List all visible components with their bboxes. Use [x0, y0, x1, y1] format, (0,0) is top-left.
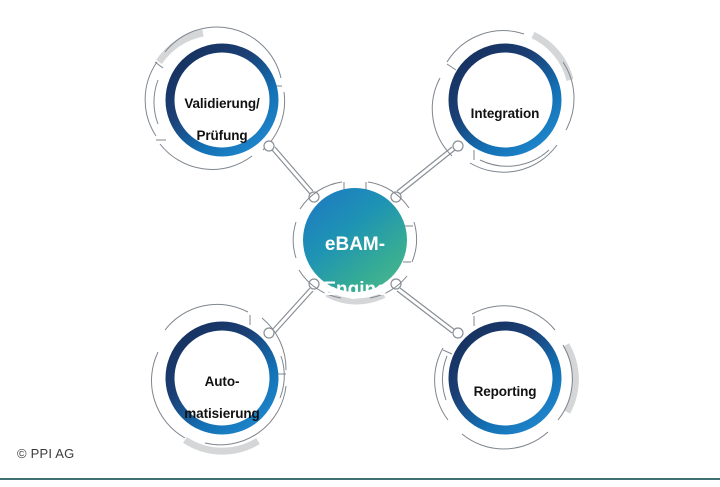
- decor-bracket-arc: [280, 356, 284, 398]
- decor-thin-arc: [293, 222, 296, 258]
- bottom-divider: [0, 478, 720, 480]
- decor-tick: [447, 64, 456, 70]
- decor-tick: [443, 350, 452, 354]
- decor-bracket-arc: [442, 356, 447, 400]
- connector-reporting: [391, 279, 463, 338]
- decor-bracket-arc: [154, 80, 158, 124]
- node-automatisierung[interactable]: [152, 304, 287, 451]
- connector-dot: [264, 141, 274, 151]
- node-reporting[interactable]: [435, 306, 576, 449]
- decor-thick-arc: [327, 294, 384, 301]
- node-ring: [170, 48, 274, 152]
- decor-thin-arc: [462, 432, 548, 449]
- connector-dot: [264, 328, 274, 338]
- node-ring: [453, 48, 557, 152]
- node-ring: [453, 326, 557, 430]
- decor-thick-arc: [185, 440, 258, 451]
- decor-thick-arc: [566, 345, 575, 412]
- node-ring: [170, 326, 274, 430]
- copyright-notice: © PPI AG: [17, 446, 74, 461]
- center-circle: [303, 188, 407, 292]
- diagram-graphic: [0, 0, 720, 487]
- decor-thin-arc: [412, 222, 417, 262]
- connector-integration: [391, 141, 463, 202]
- decor-thin-arc: [432, 78, 452, 156]
- decor-thin-arc: [145, 62, 157, 136]
- connector-dot: [453, 141, 463, 151]
- connector-automatisierung: [264, 279, 319, 338]
- connector-dot: [453, 328, 463, 338]
- diagram-canvas: Validierung/ Prüfung Integration Auto- m…: [0, 0, 720, 487]
- connector-validierung: [264, 141, 319, 202]
- node-validierung-pruefung[interactable]: [145, 27, 284, 169]
